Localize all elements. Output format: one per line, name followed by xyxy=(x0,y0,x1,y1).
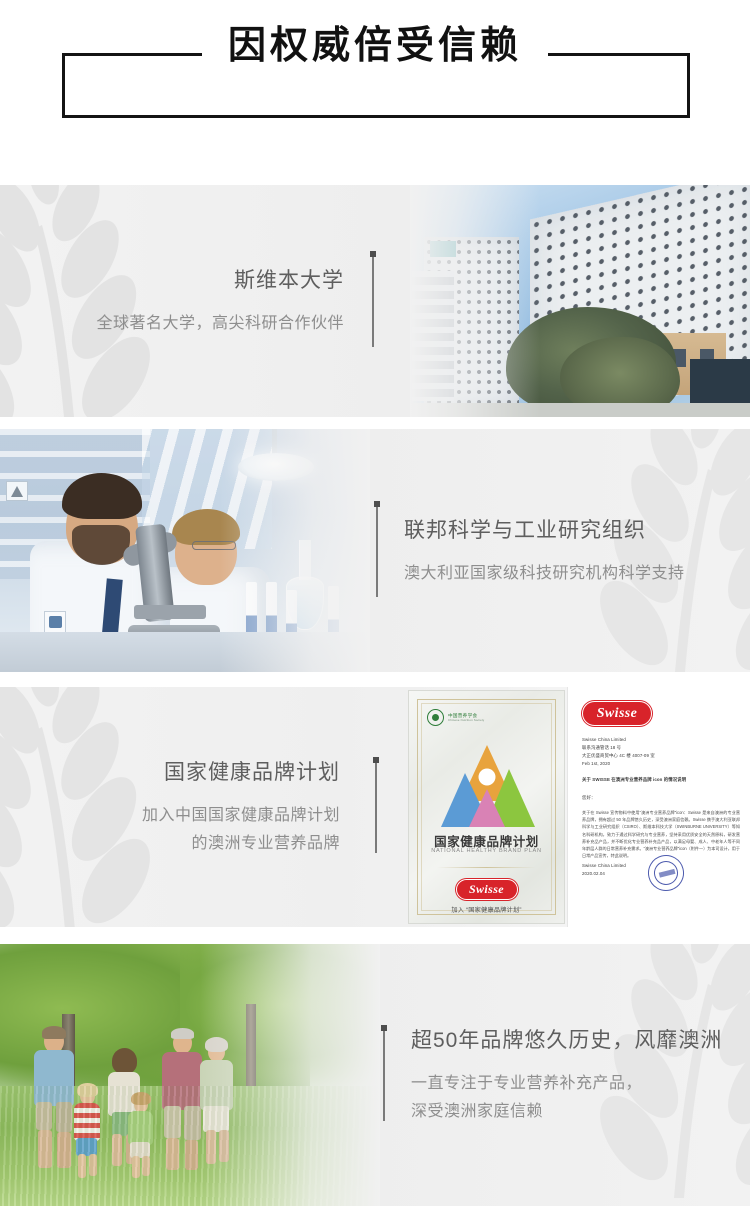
letter-signoff-company: Swisse China Limited xyxy=(582,863,626,868)
family-walking-meadow-photo xyxy=(0,944,380,1206)
letter-signoff-date: 2020.02.04 xyxy=(582,871,605,876)
swinburne-university-building-photo xyxy=(410,185,750,417)
panel-title: 超50年品牌悠久历史，风靡澳洲 xyxy=(411,1024,722,1058)
certificate-title-en: NATIONAL HEALTHY BRAND PLAN xyxy=(409,848,564,854)
swisse-logo: Swisse xyxy=(582,701,652,726)
letter-address-line-2: 大正优盛商贸中心 4C 楼 4007-09 室 xyxy=(582,753,655,759)
certificate-footer: 加入 “国家健康品牌计划” xyxy=(409,905,564,914)
page-title-text: 因权威倍受信赖 xyxy=(202,22,548,70)
chinese-nutrition-society-logo: 中国营养学会 Chinese Nutrition Society xyxy=(427,709,484,726)
panel-gap xyxy=(0,417,750,429)
photo-left-fade xyxy=(410,185,540,417)
letter-company: Swisse China Limited xyxy=(582,737,626,742)
panel-subtitle: 澳大利亚国家级科技研究机构科学支持 xyxy=(404,560,685,588)
panel-heritage: 超50年品牌悠久历史，风靡澳洲 一直专注于专业营养补充产品， 深受澳洲家庭信赖 xyxy=(0,944,750,1206)
letter-salutation: 您好： xyxy=(582,795,595,801)
panel-csiro-text: 联邦科学与工业研究组织 澳大利亚国家级科技研究机构科学支持 xyxy=(376,429,726,672)
panel-heritage-text: 超50年品牌悠久历史，风靡澳洲 一直专注于专业营养补充产品， 深受澳洲家庭信赖 xyxy=(383,944,726,1206)
society-seal-icon xyxy=(427,709,444,726)
national-health-brand-plan-certificate: 中国营养学会 Chinese Nutrition Society 国家健康品牌计… xyxy=(409,691,564,923)
letter-body: 关于在 Swisse 宣传物料中使用“澳洲专业营养品牌”icon：Swisse … xyxy=(582,809,740,859)
microscope-stage xyxy=(134,605,206,619)
page-title: 因权威倍受信赖 xyxy=(0,22,750,70)
society-name-en: Chinese Nutrition Society xyxy=(448,719,484,722)
photo-right-fade xyxy=(200,944,380,1206)
text-divider-line xyxy=(375,761,377,853)
photo-right-fade xyxy=(220,429,370,672)
panel-nhbp-text: 国家健康品牌计划 加入中国国家健康品牌计划 的澳洲专业营养品牌 xyxy=(24,687,368,927)
panel-csiro: 联邦科学与工业研究组织 澳大利亚国家级科技研究机构科学支持 xyxy=(0,429,750,672)
panel-national-health-brand-plan: 中国营养学会 Chinese Nutrition Society 国家健康品牌计… xyxy=(0,687,750,927)
panel-swinburne: 斯维本大学 全球著名大学，高尖科研合作伙伴 xyxy=(0,185,750,417)
letter-subject: 关于 SWISSE 在澳洲专业营养品牌 icon 的情况说明 xyxy=(582,777,686,783)
swisse-logo-text: Swisse xyxy=(597,706,638,722)
warning-sign-icon xyxy=(6,481,28,501)
page-header: 因权威倍受信赖 xyxy=(0,0,750,185)
panel-title: 国家健康品牌计划 xyxy=(164,756,340,790)
panel-subtitle-line-1: 一直专注于专业营养补充产品， xyxy=(411,1070,642,1098)
panel-title: 联邦科学与工业研究组织 xyxy=(404,514,646,548)
certificate-divider xyxy=(437,867,536,868)
panel-subtitle-line-2: 深受澳洲家庭信赖 xyxy=(411,1098,543,1126)
panel-swinburne-text: 斯维本大学 全球著名大学，高尖科研合作伙伴 xyxy=(24,185,372,417)
swisse-logo-text: Swisse xyxy=(469,882,504,897)
panel-subtitle-line-1: 加入中国国家健康品牌计划 xyxy=(142,802,340,830)
text-divider-line xyxy=(372,255,374,347)
mountain-person-logo-icon xyxy=(439,743,535,827)
panel-gap xyxy=(0,672,750,687)
panel-subtitle: 全球著名大学，高尖科研合作伙伴 xyxy=(96,310,344,338)
dark-structure xyxy=(690,359,750,407)
panel-gap xyxy=(0,927,750,944)
laboratory-scientists-microscope-photo xyxy=(0,429,370,672)
swisse-official-letter: Swisse Swisse China Limited 联系沟通管话 18 号 … xyxy=(568,687,750,927)
letter-date: Feb 1st, 2020 xyxy=(582,761,610,766)
letter-address-line-1: 联系沟通管话 18 号 xyxy=(582,745,621,751)
swisse-logo: Swisse xyxy=(456,879,518,900)
panel-subtitle-line-2: 的澳洲专业营养品牌 xyxy=(191,830,340,858)
panel-title: 斯维本大学 xyxy=(234,264,344,298)
